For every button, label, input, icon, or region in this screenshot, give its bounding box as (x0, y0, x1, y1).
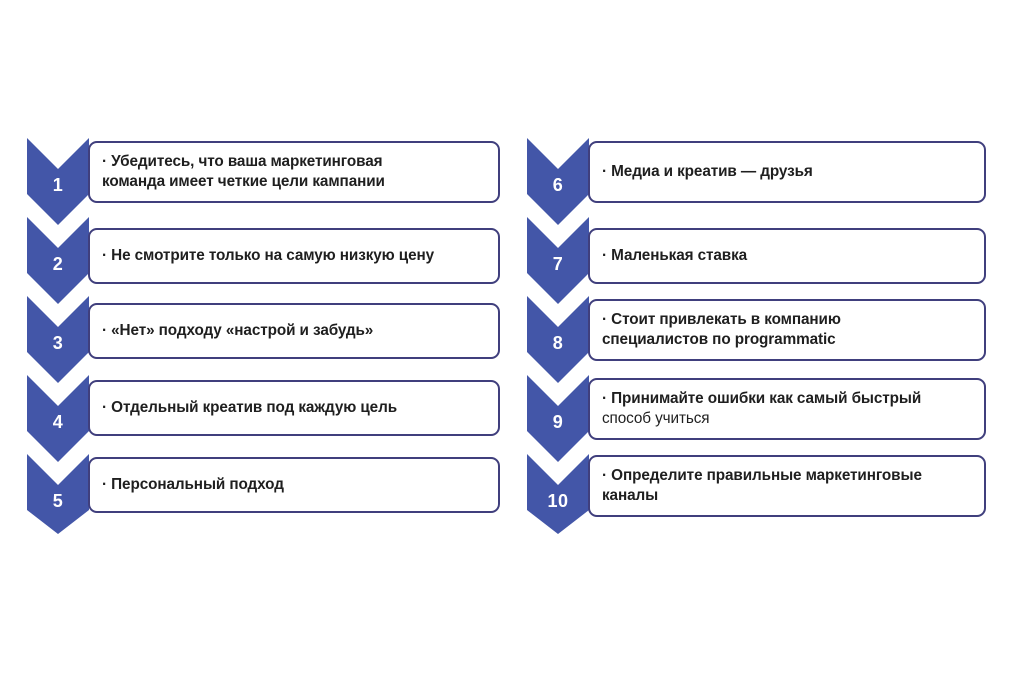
list-item-text: · Принимайте ошибки как самый быстрый сп… (602, 389, 921, 430)
chevron-number-6: 6 (527, 176, 589, 194)
list-item-text: · Медиа и креатив — друзья (602, 162, 813, 182)
list-item-line-1: · Персональный подход (102, 476, 284, 493)
list-item-line-1: · Стоит привлекать в компанию (602, 311, 841, 328)
list-item-text: · Убедитесь, что ваша маркетинговая кома… (102, 152, 385, 193)
list-item[interactable]: · Стоит привлекать в компанию специалист… (588, 299, 986, 361)
list-item-line-1: · Медиа и креатив — друзья (602, 163, 813, 180)
list-item-line-1: · Убедитесь, что ваша маркетинговая (102, 153, 382, 170)
list-item[interactable]: · Медиа и креатив — друзья (588, 141, 986, 203)
chevron-number-4: 4 (27, 413, 89, 431)
list-item[interactable]: · Убедитесь, что ваша маркетинговая кома… (88, 141, 500, 203)
list-item-text: · Маленькая ставка (602, 246, 747, 266)
list-item-line-1: · Маленькая ставка (602, 247, 747, 264)
list-item[interactable]: · Определите правильные маркетинговые ка… (588, 455, 986, 517)
chevron-number-5: 5 (27, 492, 89, 510)
list-item[interactable]: · «Нет» подходу «настрой и забудь» (88, 303, 500, 359)
list-item[interactable]: · Персональный подход (88, 457, 500, 513)
list-item-line-1: · Не смотрите только на самую низкую цен… (102, 247, 434, 264)
list-item-text: · Не смотрите только на самую низкую цен… (102, 246, 434, 266)
chevron-number-3: 3 (27, 334, 89, 352)
infographic-canvas: 1 2 3 4 5 · Убедитесь, что ваша маркетин… (0, 0, 1024, 683)
list-item-text: · Персональный подход (102, 475, 284, 495)
right-column: 6 7 8 9 10 · Медиа и креатив — друзья · … (500, 0, 1012, 683)
list-item-line-1: · Отдельный креатив под каждую цель (102, 399, 397, 416)
list-item-line-2: команда имеет четкие цели кампании (102, 172, 385, 192)
list-item-text: · Стоит привлекать в компанию специалист… (602, 310, 841, 351)
list-item-text: · Отдельный креатив под каждую цель (102, 398, 397, 418)
list-item-line-2: каналы (602, 486, 922, 506)
chevron-number-9: 9 (527, 413, 589, 431)
chevron-number-8: 8 (527, 334, 589, 352)
chevron-number-2: 2 (27, 255, 89, 273)
list-item-line-1: · Принимайте ошибки как самый быстрый (602, 390, 921, 407)
list-item[interactable]: · Не смотрите только на самую низкую цен… (88, 228, 500, 284)
list-item[interactable]: · Отдельный креатив под каждую цель (88, 380, 500, 436)
chevron-number-1: 1 (27, 176, 89, 194)
list-item-text: · «Нет» подходу «настрой и забудь» (102, 321, 373, 341)
list-item-text: · Определите правильные маркетинговые ка… (602, 466, 922, 507)
list-item-line-2: специалистов по programmatic (602, 330, 841, 350)
list-item[interactable]: · Принимайте ошибки как самый быстрый сп… (588, 378, 986, 440)
left-column: 1 2 3 4 5 · Убедитесь, что ваша маркетин… (0, 0, 512, 683)
chevron-number-10: 10 (527, 492, 589, 510)
list-item-line-2: способ учиться (602, 409, 921, 429)
chevron-number-7: 7 (527, 255, 589, 273)
list-item-line-1: · Определите правильные маркетинговые (602, 467, 922, 484)
list-item-line-1: · «Нет» подходу «настрой и забудь» (102, 322, 373, 339)
list-item[interactable]: · Маленькая ставка (588, 228, 986, 284)
